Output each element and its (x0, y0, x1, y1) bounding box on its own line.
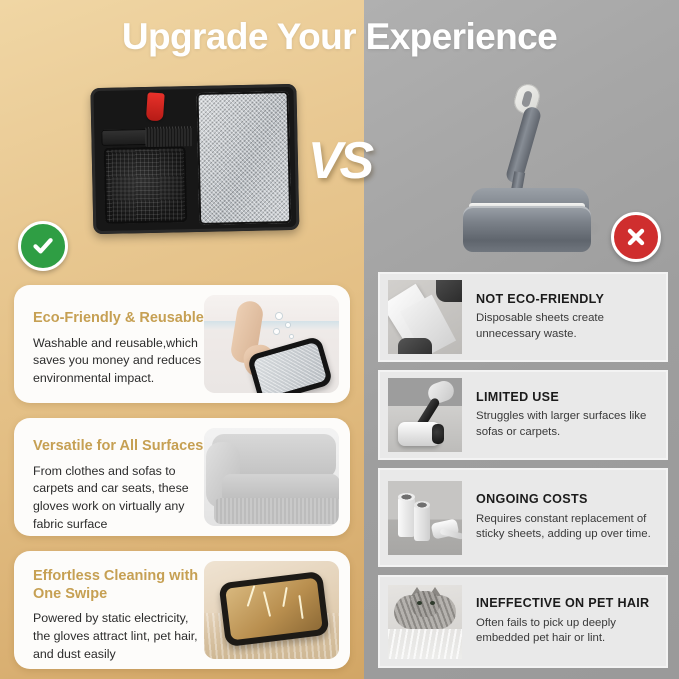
feature-card-title: Effortless Cleaning with One Swipe (33, 568, 208, 603)
drawback-card-image-lint-roller-on-carpet (388, 378, 462, 452)
drawback-card-body: Struggles with larger surfaces like sofa… (476, 409, 656, 440)
drawback-card-limited-use: LIMITED USE Struggles with larger surfac… (378, 370, 668, 460)
feature-card-image-grey-fabric-sofa (204, 428, 339, 526)
feature-card-text: Effortless Cleaning with One Swipe Power… (33, 568, 208, 663)
hero-product-lint-roller (455, 84, 605, 244)
feature-card-text: Versatile for All Surfaces From clothes … (33, 438, 208, 533)
glove-body (90, 84, 299, 234)
drawback-card-ineffective-on-pet-hair: INEFFECTIVE ON PET HAIR Often fails to p… (378, 575, 668, 668)
drawback-card-title: INEFFECTIVE ON PET HAIR (476, 596, 656, 610)
feature-card-body: Washable and reusable,which saves you mo… (33, 335, 208, 388)
page-title: Upgrade Your Experience (0, 16, 679, 58)
drawback-card-body: Requires constant replacement of sticky … (476, 512, 656, 543)
feature-card-effortless-cleaning: Effortless Cleaning with One Swipe Power… (14, 551, 350, 669)
x-circle-icon (611, 212, 661, 262)
drawback-card-text: LIMITED USE Struggles with larger surfac… (476, 390, 666, 440)
drawback-card-not-eco-friendly: NOT ECO-FRIENDLY Disposable sheets creat… (378, 272, 668, 362)
drawback-card-image-refill-rolls (388, 481, 462, 555)
glove-red-tab (146, 92, 165, 121)
glove-mesh-panel (104, 146, 188, 224)
drawback-card-text: ONGOING COSTS Requires constant replacem… (476, 492, 666, 542)
drawback-card-body: Disposable sheets create unnecessary was… (476, 311, 656, 342)
feature-card-body: Powered by static electricity, the glove… (33, 610, 208, 663)
hero-product-glove (90, 84, 299, 244)
drawback-card-image-discarded-sticky-sheets (388, 280, 462, 354)
roller-drum (463, 206, 591, 252)
drawback-card-body: Often fails to pick up deeply embedded p… (476, 616, 656, 647)
glove-elastic-band (145, 126, 193, 147)
feature-card-title: Versatile for All Surfaces (33, 438, 208, 456)
drawback-card-text: INEFFECTIVE ON PET HAIR Often fails to p… (476, 596, 666, 646)
feature-card-versatile: Versatile for All Surfaces From clothes … (14, 418, 350, 536)
drawback-card-ongoing-costs: ONGOING COSTS Requires constant replacem… (378, 468, 668, 567)
drawback-card-title: ONGOING COSTS (476, 492, 656, 506)
comparison-infographic: Upgrade Your Experience VS (0, 0, 679, 679)
check-circle-icon (18, 221, 68, 271)
feature-card-eco-friendly: Eco-Friendly & Reusable Washable and reu… (14, 285, 350, 403)
feature-card-title: Eco-Friendly & Reusable (33, 310, 208, 328)
drawback-card-title: LIMITED USE (476, 390, 656, 404)
drawback-card-title: NOT ECO-FRIENDLY (476, 292, 656, 306)
feature-card-image-static-electricity-pad (204, 561, 339, 659)
feature-card-image-glove-washed-in-water (204, 295, 339, 393)
glove-fabric-panel (197, 91, 292, 225)
feature-card-body: From clothes and sofas to carpets and ca… (33, 463, 208, 533)
feature-card-text: Eco-Friendly & Reusable Washable and reu… (33, 310, 208, 388)
drawback-card-image-cat-shedding (388, 585, 462, 659)
drawback-card-text: NOT ECO-FRIENDLY Disposable sheets creat… (476, 292, 666, 342)
